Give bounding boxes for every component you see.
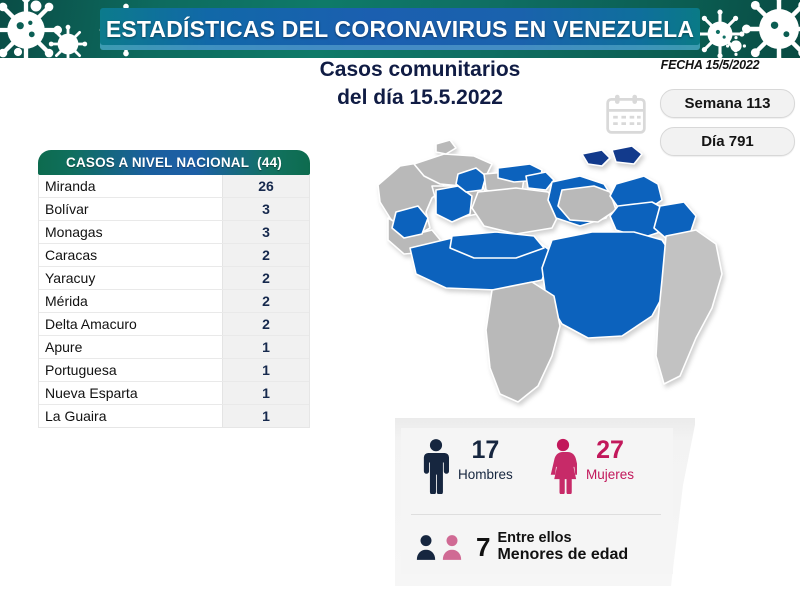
fecha-label: FECHA 15/5/2022: [630, 58, 790, 72]
gender-row: 17 Hombres 27 Mujeres: [401, 436, 673, 510]
table-row: Miranda26: [39, 175, 309, 198]
women-stat: 27 Mujeres: [549, 438, 634, 499]
table-row: Mérida2: [39, 290, 309, 313]
national-cases-table: CASOS A NIVEL NACIONAL (44) Miranda26Bol…: [38, 150, 310, 428]
table-row-value: 2: [222, 267, 309, 289]
table-row: Monagas3: [39, 221, 309, 244]
map-state-caracas: [526, 172, 554, 190]
men-label: Hombres: [458, 467, 513, 482]
venezuela-map: [366, 140, 796, 430]
table-body: Miranda26Bolívar3Monagas3Caracas2Yaracuy…: [38, 175, 310, 428]
headline-line-1: Casos comunitarios: [240, 56, 600, 84]
page-title: ESTADÍSTICAS DEL CORONAVIRUS EN VENEZUEL…: [106, 16, 694, 43]
women-text: 27 Mujeres: [586, 438, 634, 482]
table-row-value: 1: [222, 359, 309, 381]
table-row-value: 1: [222, 336, 309, 358]
minors-stat: 7 Entre ellos Menores de edad: [401, 524, 673, 570]
table-header-count: (44): [257, 155, 282, 170]
men-stat: 17 Hombres: [423, 438, 513, 499]
minors-text: Entre ellos Menores de edad: [497, 530, 628, 564]
table-row-value: 2: [222, 313, 309, 335]
table-row-value: 3: [222, 198, 309, 220]
men-count: 17: [458, 438, 513, 463]
map-state-merida: [392, 206, 428, 238]
two-people-icon: [415, 534, 463, 560]
map-islets: [436, 140, 456, 154]
stats-panel: 17 Hombres 27 Mujeres: [395, 418, 695, 586]
week-badge-label: Semana 113: [685, 95, 771, 112]
women-count: 27: [586, 438, 634, 463]
table-row: Delta Amacuro2: [39, 313, 309, 336]
table-row-state: La Guaira: [39, 408, 222, 424]
table-row-value: 3: [222, 221, 309, 243]
table-row-value: 1: [222, 405, 309, 427]
table-row-state: Portuguesa: [39, 362, 222, 378]
table-header-title: CASOS A NIVEL NACIONAL: [66, 155, 249, 170]
calendar-icon: [604, 92, 648, 141]
map-state-anzoategui: [558, 186, 616, 222]
table-row-state: Monagas: [39, 224, 222, 240]
table-row-state: Yaracuy: [39, 270, 222, 286]
table-row: Caracas2: [39, 244, 309, 267]
headline-line-2: del día 15.5.2022: [240, 84, 600, 112]
table-row: La Guaira1: [39, 405, 309, 427]
minors-count: 7: [476, 534, 490, 560]
table-row-value: 2: [222, 244, 309, 266]
table-row-state: Mérida: [39, 293, 222, 309]
table-row: Portuguesa1: [39, 359, 309, 382]
female-figure-icon: [549, 438, 577, 499]
table-row-state: Apure: [39, 339, 222, 355]
table-row-state: Bolívar: [39, 201, 222, 217]
banner-title-plate: ESTADÍSTICAS DEL CORONAVIRUS EN VENEZUEL…: [100, 8, 700, 50]
table-row: Yaracuy2: [39, 267, 309, 290]
map-state-nueva-esparta: [582, 146, 642, 166]
map-state-amazonas: [486, 282, 560, 402]
minors-line-2: Menores de edad: [497, 546, 628, 564]
male-figure-icon: [423, 438, 449, 499]
table-row-value: 2: [222, 290, 309, 312]
table-row-state: Nueva Esparta: [39, 385, 222, 401]
headline: Casos comunitarios del día 15.5.2022: [240, 56, 600, 111]
stats-panel-inner: 17 Hombres 27 Mujeres: [401, 428, 673, 574]
minors-line-1: Entre ellos: [497, 530, 628, 546]
top-banner: ESTADÍSTICAS DEL CORONAVIRUS EN VENEZUEL…: [0, 0, 800, 58]
table-header: CASOS A NIVEL NACIONAL (44): [38, 150, 310, 175]
table-row-state: Caracas: [39, 247, 222, 263]
table-row: Bolívar3: [39, 198, 309, 221]
men-text: 17 Hombres: [458, 438, 513, 482]
table-row: Nueva Esparta1: [39, 382, 309, 405]
women-label: Mujeres: [586, 467, 634, 482]
map-state-esequiba: [656, 230, 722, 384]
table-row-value: 26: [222, 175, 309, 197]
table-row-state: Delta Amacuro: [39, 316, 222, 332]
table-row-value: 1: [222, 382, 309, 404]
table-row-state: Miranda: [39, 178, 222, 194]
map-state-bolivar: [542, 232, 674, 338]
table-row: Apure1: [39, 336, 309, 359]
week-badge[interactable]: Semana 113: [660, 89, 795, 118]
stats-divider: [411, 514, 661, 515]
